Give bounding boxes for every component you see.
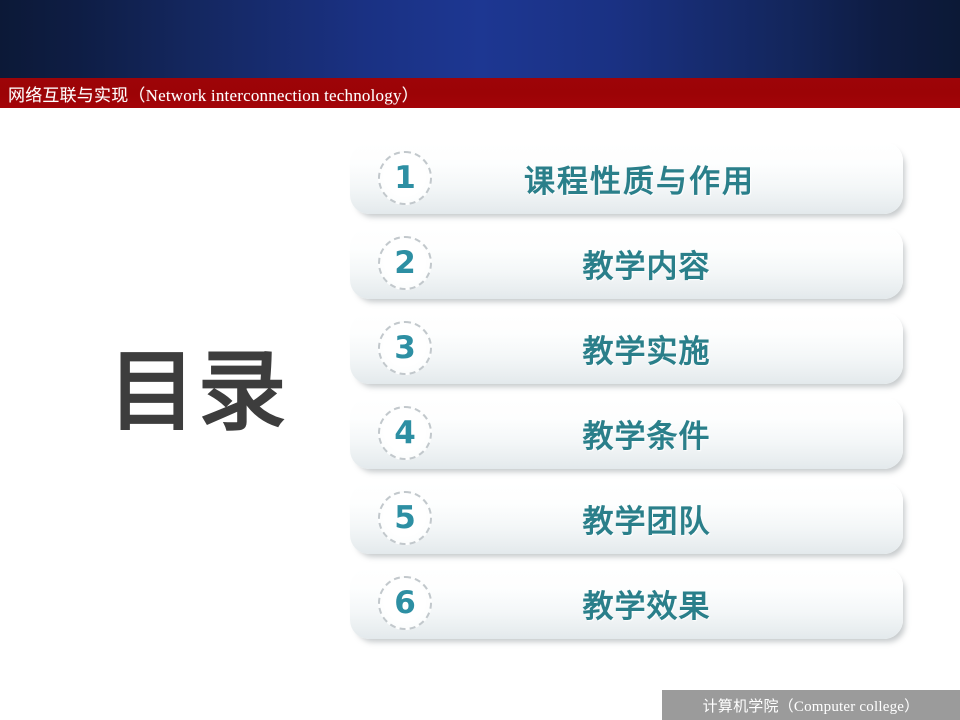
- number-badge: 4: [378, 406, 432, 460]
- footer-label: 计算机学院（Computer college）: [703, 695, 920, 716]
- number-badge: 3: [378, 321, 432, 375]
- number-badge: 6: [378, 576, 432, 630]
- list-item[interactable]: 1 课程性质与作用: [350, 142, 903, 214]
- list-item[interactable]: 4 教学条件: [350, 397, 903, 469]
- number-badge: 2: [378, 236, 432, 290]
- list-item[interactable]: 3 教学实施: [350, 312, 903, 384]
- course-title: 网络互联与实现（Network interconnection technolo…: [0, 81, 419, 106]
- number-badge-value: 1: [394, 163, 416, 194]
- list-item-label: 教学实施: [350, 326, 903, 371]
- page-title: 目录: [108, 348, 308, 436]
- list-item-label: 教学效果: [350, 581, 903, 626]
- list-item-label: 教学团队: [350, 496, 903, 541]
- footer-band: 计算机学院（Computer college）: [662, 690, 960, 720]
- number-badge: 1: [378, 151, 432, 205]
- toc-item-list: 1 课程性质与作用 2 教学内容 3 教学实施 4 教学条件 5: [350, 142, 903, 639]
- list-item[interactable]: 6 教学效果: [350, 567, 903, 639]
- number-badge-value: 3: [394, 333, 416, 364]
- number-badge: 5: [378, 491, 432, 545]
- header-gradient-band: [0, 0, 960, 78]
- list-item-label: 课程性质与作用: [350, 156, 903, 201]
- list-item-label: 教学条件: [350, 411, 903, 456]
- number-badge-value: 6: [394, 588, 416, 619]
- slide-canvas: 网络互联与实现（Network interconnection technolo…: [0, 0, 960, 720]
- list-item-label: 教学内容: [350, 241, 903, 286]
- number-badge-value: 5: [394, 503, 416, 534]
- list-item[interactable]: 5 教学团队: [350, 482, 903, 554]
- header-red-bar: 网络互联与实现（Network interconnection technolo…: [0, 78, 960, 108]
- number-badge-value: 4: [394, 418, 416, 449]
- list-item[interactable]: 2 教学内容: [350, 227, 903, 299]
- number-badge-value: 2: [394, 248, 416, 279]
